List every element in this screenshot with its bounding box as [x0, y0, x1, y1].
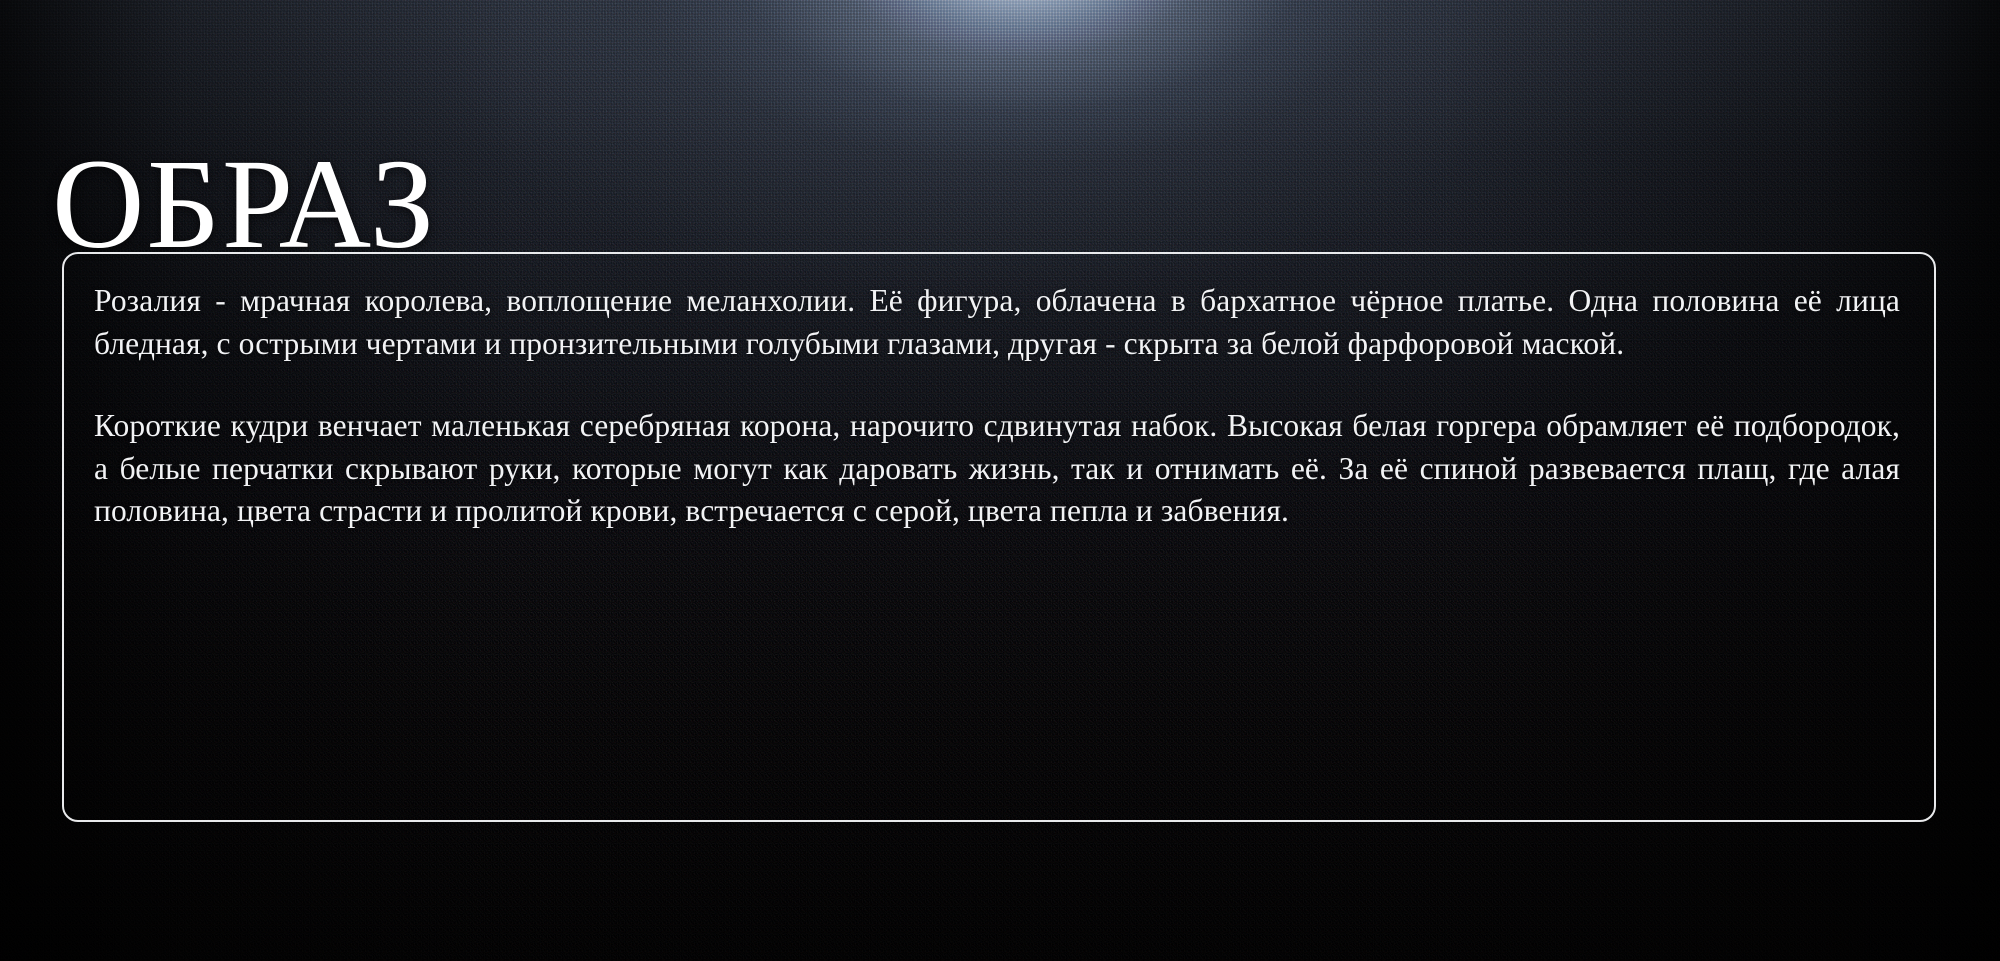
page-title: ОБРАЗ	[52, 140, 436, 268]
description-box: Розалия - мрачная королева, воплощение м…	[62, 252, 1936, 822]
description-paragraph-2: Короткие кудри венчает маленькая серебря…	[94, 405, 1900, 533]
description-paragraph-1: Розалия - мрачная королева, воплощение м…	[94, 280, 1900, 365]
slide-root: ОБРАЗ Розалия - мрачная королева, воплощ…	[0, 0, 2000, 961]
